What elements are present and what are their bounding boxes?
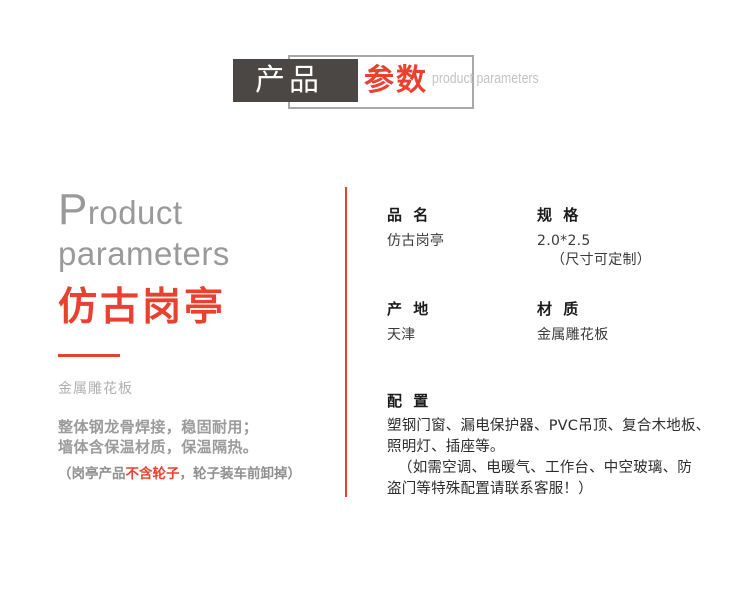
- configuration-label: 配 置: [387, 390, 727, 411]
- product-title-chinese: 仿古岗亭: [58, 287, 328, 330]
- material-subtitle: 金属雕花板: [58, 378, 328, 398]
- banner-subtitle-english: product parameters: [432, 70, 539, 87]
- spec-row: 产 地 天津 材 质 金属雕花板: [387, 299, 727, 355]
- title-line-one-rest: roduct: [88, 194, 183, 231]
- spec-grid: 品 名 仿古岗亭 规 格 2.0*2.5（尺寸可定制） 产 地 天津 材 质 金…: [387, 205, 727, 355]
- spec-value: 金属雕花板: [537, 326, 727, 345]
- note-highlight: 不含轮子: [126, 466, 180, 482]
- description-line-2: 墙体含保温材质，保温隔热。: [58, 437, 328, 457]
- column-divider: [345, 187, 347, 497]
- spec-label: 规 格: [537, 205, 727, 226]
- wheels-note: （岗亭产品不含轮子，轮子装车前卸掉）: [58, 462, 328, 482]
- title-line-one: Product: [58, 190, 328, 233]
- product-parameters-page: 产品 参数 product parameters Product paramet…: [0, 0, 750, 597]
- spec-value: 天津: [387, 326, 537, 345]
- note-prefix: （岗亭产品: [58, 466, 126, 482]
- banner-header: 产品 参数 product parameters: [0, 0, 750, 170]
- spec-value-main: 2.0*2.5: [537, 233, 591, 249]
- spec-value: 2.0*2.5（尺寸可定制）: [537, 232, 727, 270]
- accent-rule: [58, 354, 120, 357]
- spec-value: 仿古岗亭: [387, 232, 537, 251]
- configuration-block: 配 置 塑钢门窗、漏电保护器、PVC吊顶、复合木地板、 照明灯、插座等。 （如需…: [387, 390, 727, 500]
- spec-label: 品 名: [387, 205, 537, 226]
- left-column: Product parameters 仿古岗亭 金属雕花板 整体钢龙骨焊接，稳固…: [58, 190, 328, 482]
- spec-label: 产 地: [387, 299, 537, 320]
- config-line-1: 塑钢门窗、漏电保护器、PVC吊顶、复合木地板、: [387, 416, 727, 437]
- configuration-body: 塑钢门窗、漏电保护器、PVC吊顶、复合木地板、 照明灯、插座等。 （如需空调、电…: [387, 416, 727, 500]
- config-line-3: （如需空调、电暖气、工作台、中空玻璃、防: [387, 458, 727, 479]
- product-description: 整体钢龙骨焊接，稳固耐用； 墙体含保温材质，保温隔热。: [58, 417, 328, 458]
- product-title-english: Product parameters: [58, 190, 328, 274]
- banner-title-primary: 产品: [255, 62, 323, 100]
- note-suffix: ，轮子装车前卸掉）: [180, 466, 302, 482]
- spec-cell-size: 规 格 2.0*2.5（尺寸可定制）: [537, 205, 727, 270]
- spec-cell-origin: 产 地 天津: [387, 299, 537, 345]
- spec-label: 材 质: [537, 299, 727, 320]
- spec-row: 品 名 仿古岗亭 规 格 2.0*2.5（尺寸可定制）: [387, 205, 727, 283]
- description-line-1: 整体钢龙骨焊接，稳固耐用；: [58, 417, 328, 437]
- banner-title-accent: 参数: [364, 62, 428, 100]
- title-line-two: parameters: [58, 235, 328, 274]
- spec-cell-material: 材 质 金属雕花板: [537, 299, 727, 345]
- spec-cell-name: 品 名 仿古岗亭: [387, 205, 537, 251]
- spec-value-note: （尺寸可定制）: [537, 251, 727, 270]
- right-column: 品 名 仿古岗亭 规 格 2.0*2.5（尺寸可定制） 产 地 天津 材 质 金…: [387, 205, 727, 371]
- config-line-4: 盗门等特殊配置请联系客服！）: [387, 479, 727, 500]
- title-drop-cap: P: [58, 185, 88, 234]
- config-line-2: 照明灯、插座等。: [387, 437, 727, 458]
